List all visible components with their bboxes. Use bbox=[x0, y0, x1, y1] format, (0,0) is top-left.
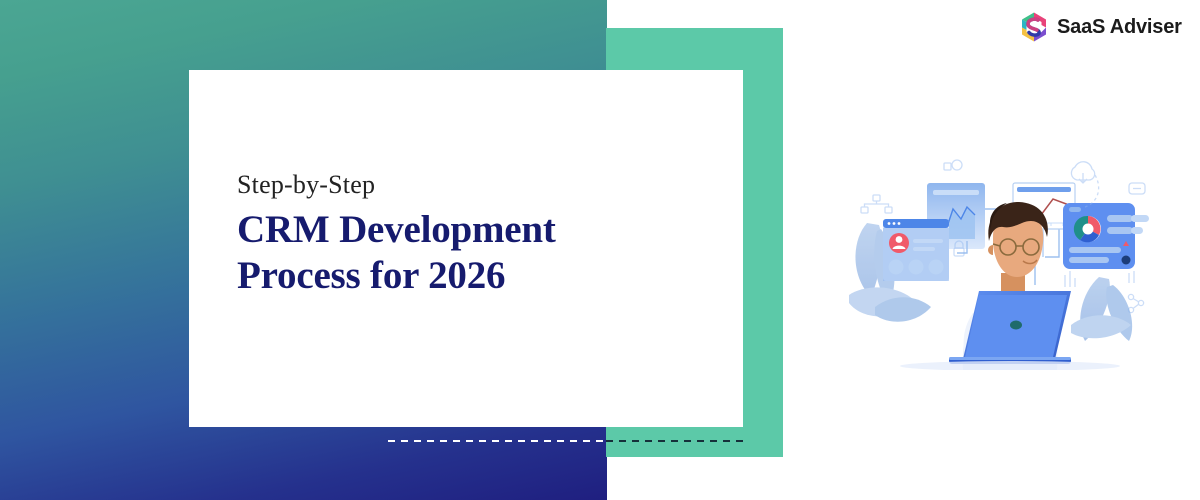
hero-illustration bbox=[845, 145, 1175, 370]
dashed-divider-dark-segment bbox=[606, 440, 748, 442]
plant-leaves-right bbox=[1071, 277, 1132, 341]
analytics-dashboard-card bbox=[1063, 203, 1149, 269]
poster-canvas: Step-by-Step CRM Development Process for… bbox=[0, 0, 1200, 500]
brand-logo[interactable]: SaaS Adviser bbox=[1019, 11, 1182, 43]
hero-content-card: Step-by-Step CRM Development Process for… bbox=[189, 70, 743, 427]
dashed-divider bbox=[388, 440, 748, 442]
hero-text-group: Step-by-Step CRM Development Process for… bbox=[237, 170, 707, 298]
brand-name-text: SaaS Adviser bbox=[1057, 16, 1182, 39]
bar-chart-icon bbox=[1065, 271, 1075, 287]
dashed-divider-light-segment bbox=[388, 440, 606, 442]
profile-card bbox=[883, 219, 949, 281]
hero-headline-line-2: Process for 2026 bbox=[237, 253, 707, 299]
hero-eyebrow: Step-by-Step bbox=[237, 170, 707, 200]
donut-chart bbox=[1074, 216, 1101, 242]
hero-headline-line-1: CRM Development bbox=[237, 207, 707, 253]
saas-adviser-hexagon-s-logo-icon bbox=[1019, 11, 1049, 43]
